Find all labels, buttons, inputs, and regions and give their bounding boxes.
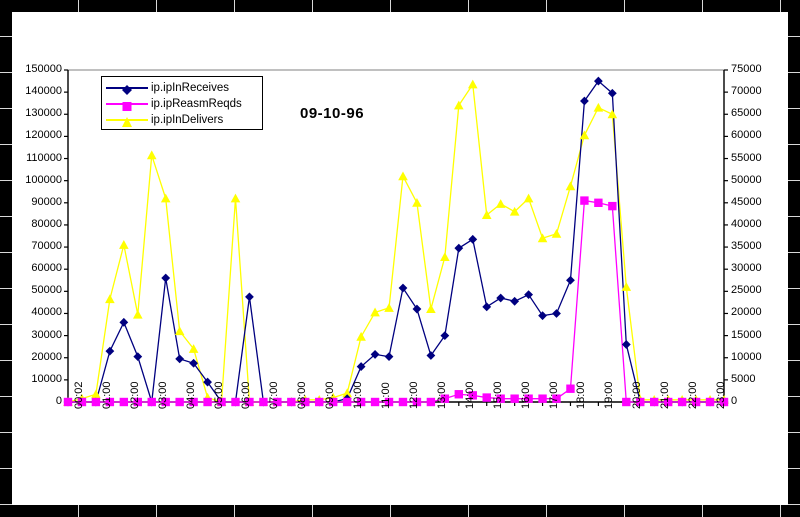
legend-label-ipreasmreqds: ip.ipReasmReqds (151, 98, 242, 110)
y-axis-right-tick-label: 5000 (731, 373, 755, 385)
frame-separator (0, 216, 12, 217)
frame-separator (156, 505, 157, 517)
y-axis-left-tick-label: 90000 (31, 196, 62, 208)
x-axis-tick-label: 20:00 (631, 381, 643, 409)
frame-separator (788, 72, 800, 73)
y-axis-right-tick-label: 25000 (731, 284, 762, 296)
frame-separator (0, 72, 12, 73)
frame-separator (780, 505, 781, 517)
frame-separator (788, 324, 800, 325)
x-axis-tick-label: 08:00 (296, 381, 308, 409)
legend-label-ipindelivers: ip.ipInDelivers (151, 114, 223, 126)
frame-separator (546, 505, 547, 517)
y-axis-left-tick-label: 0 (56, 395, 62, 407)
legend-entry-ipindelivers: ip.ipInDelivers (106, 112, 258, 128)
frame-separator (788, 360, 800, 361)
y-axis-left-tick-label: 30000 (31, 329, 62, 341)
y-axis-right-tick-label: 75000 (731, 63, 762, 75)
frame-separator (0, 108, 12, 109)
y-axis-right-tick-label: 60000 (731, 129, 762, 141)
frame-separator (0, 144, 12, 145)
x-axis-tick-label: 22:00 (687, 381, 699, 409)
x-axis-tick-label: 19:00 (603, 381, 615, 409)
x-axis-tick-label: 09:00 (324, 381, 336, 409)
x-axis-tick-label: 21:00 (659, 381, 671, 409)
frame-separator (390, 505, 391, 517)
frame-separator (788, 468, 800, 469)
frame-separator (0, 396, 12, 397)
x-axis-tick-label: 03:00 (157, 381, 169, 409)
frame-separator (78, 0, 79, 12)
y-axis-left-tick-label: 120000 (25, 129, 62, 141)
y-axis-right-tick-label: 40000 (731, 218, 762, 230)
x-axis-tick-label: 00:02 (73, 381, 85, 409)
y-axis-right-tick-label: 0 (731, 395, 737, 407)
frame-separator (702, 0, 703, 12)
frame-separator (0, 468, 12, 469)
frame-separator (788, 36, 800, 37)
frame-separator (788, 432, 800, 433)
y-axis-left-tick-label: 100000 (25, 174, 62, 186)
x-axis-tick-label: 17:00 (548, 381, 560, 409)
y-axis-left-tick-label: 130000 (25, 107, 62, 119)
frame-separator (390, 0, 391, 12)
x-axis-tick-label: 05:00 (213, 381, 225, 409)
frame-separator (0, 252, 12, 253)
frame-separator (0, 180, 12, 181)
frame-separator (156, 0, 157, 12)
x-axis-tick-label: 04:00 (185, 381, 197, 409)
frame-separator (0, 36, 12, 37)
frame-separator (78, 505, 79, 517)
frame-separator (788, 504, 800, 505)
x-axis-tick-label: 16:00 (520, 381, 532, 409)
y-axis-left-tick-label: 10000 (31, 373, 62, 385)
frame-separator (234, 505, 235, 517)
x-axis-tick-label: 01:00 (101, 381, 113, 409)
legend-swatch-ipinreceives (106, 81, 148, 95)
frame-separator (624, 0, 625, 12)
frame-separator (234, 0, 235, 12)
x-axis-tick-label: 02:00 (129, 381, 141, 409)
window-frame-left (0, 0, 12, 517)
frame-separator (468, 505, 469, 517)
legend-label-ipinreceives: ip.ipInReceives (151, 82, 229, 94)
x-axis-tick-label: 10:00 (352, 381, 364, 409)
window-frame-bottom (0, 505, 800, 517)
window-frame-top (0, 0, 800, 12)
y-axis-right-tick-label: 55000 (731, 152, 762, 164)
y-axis-right-tick-label: 45000 (731, 196, 762, 208)
y-axis-left-tick-label: 110000 (26, 152, 62, 164)
y-axis-left-tick-label: 80000 (31, 218, 62, 230)
triangle-icon (121, 115, 133, 133)
y-axis-right-tick-label: 35000 (731, 240, 762, 252)
chart-window: 09-10-96 ip.ipInReceives ip.i (0, 0, 800, 517)
legend-swatch-ipindelivers (106, 113, 148, 127)
legend-entry-ipreasmreqds: ip.ipReasmReqds (106, 96, 258, 112)
frame-separator (788, 216, 800, 217)
y-axis-left-tick-label: 60000 (31, 262, 62, 274)
frame-separator (780, 0, 781, 12)
chart-title: 09-10-96 (300, 105, 364, 122)
frame-separator (788, 252, 800, 253)
y-axis-right-tick-label: 10000 (731, 351, 762, 363)
x-axis-tick-label: 12:00 (408, 381, 420, 409)
x-axis-tick-label: 23:00 (715, 381, 727, 409)
x-axis-tick-label: 18:00 (575, 381, 587, 409)
frame-separator (702, 505, 703, 517)
frame-separator (788, 396, 800, 397)
y-axis-right-tick-label: 20000 (731, 306, 762, 318)
frame-separator (788, 144, 800, 145)
frame-separator (312, 505, 313, 517)
frame-separator (788, 180, 800, 181)
frame-separator (312, 0, 313, 12)
legend-entry-ipinreceives: ip.ipInReceives (106, 80, 258, 96)
y-axis-left-tick-label: 140000 (25, 85, 62, 97)
y-axis-right-tick-label: 50000 (731, 174, 762, 186)
frame-separator (0, 288, 12, 289)
frame-separator (546, 0, 547, 12)
y-axis-right-tick-label: 30000 (731, 262, 762, 274)
chart-legend: ip.ipInReceives ip.ipReasmReqds (101, 76, 263, 130)
y-axis-left-tick-label: 150000 (25, 63, 62, 75)
y-axis-right-tick-label: 65000 (731, 107, 762, 119)
x-axis-tick-label: 13:00 (436, 381, 448, 409)
chart-canvas: 09-10-96 ip.ipInReceives ip.i (12, 12, 788, 505)
y-axis-left-tick-label: 20000 (31, 351, 62, 363)
frame-separator (468, 0, 469, 12)
frame-separator (0, 504, 12, 505)
y-axis-right-tick-label: 70000 (731, 85, 762, 97)
frame-separator (0, 324, 12, 325)
y-axis-right-tick-label: 15000 (731, 329, 762, 341)
x-axis-tick-label: 14:00 (464, 381, 476, 409)
frame-separator (788, 108, 800, 109)
x-axis-tick-label: 06:00 (240, 381, 252, 409)
y-axis-left-tick-label: 50000 (31, 284, 62, 296)
x-axis-tick-label: 15:00 (492, 381, 504, 409)
x-axis-tick-label: 07:00 (268, 381, 280, 409)
frame-separator (788, 288, 800, 289)
y-axis-left-tick-label: 70000 (31, 240, 62, 252)
window-frame-right (788, 0, 800, 517)
legend-swatch-ipreasmreqds (106, 97, 148, 111)
frame-separator (624, 505, 625, 517)
x-axis-tick-label: 11:00 (380, 382, 392, 409)
frame-separator (0, 360, 12, 361)
frame-separator (0, 432, 12, 433)
y-axis-left-tick-label: 40000 (31, 306, 62, 318)
